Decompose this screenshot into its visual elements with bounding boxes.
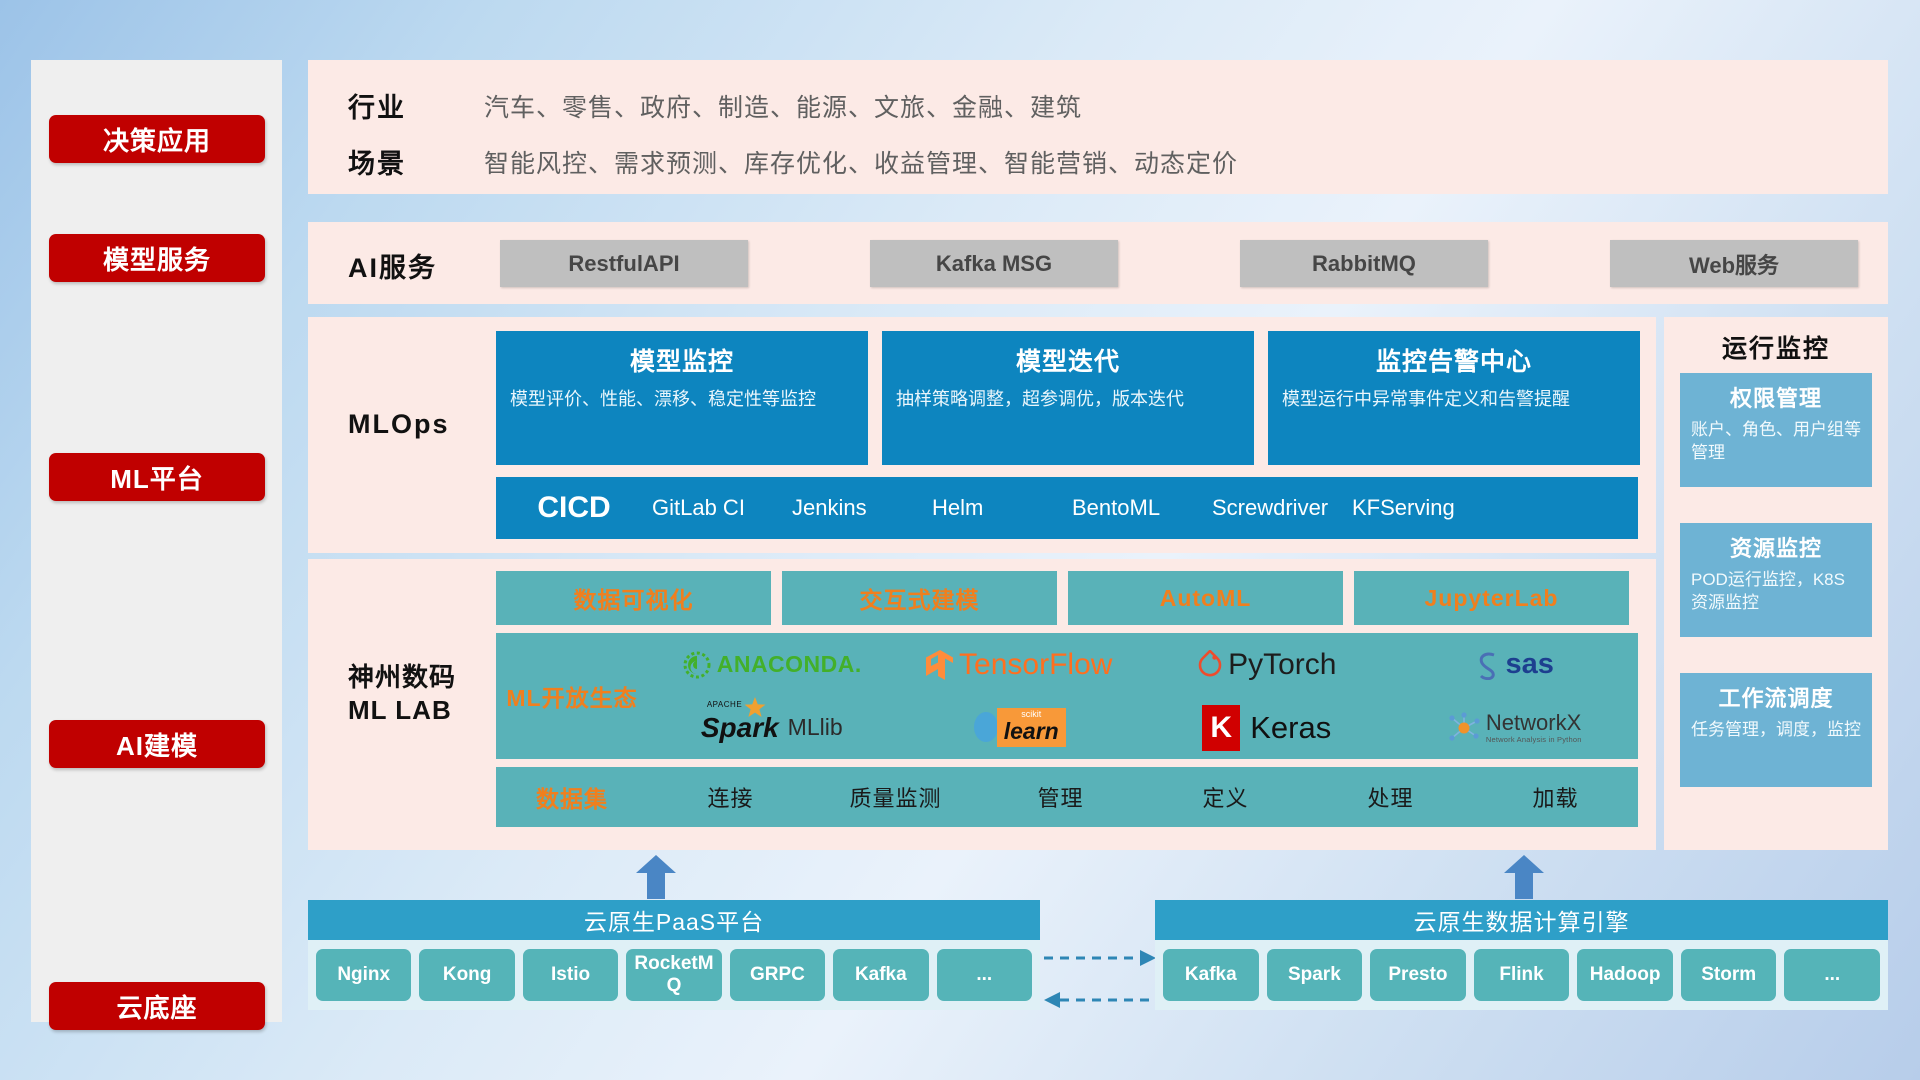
spark-mllib-logo[interactable]: APACHE Spark MLlib — [701, 712, 843, 744]
mlops-label: MLOps — [348, 409, 450, 440]
ml-ecosystem-label: ML开放生态 — [496, 679, 648, 713]
tool-chip-jupyterlab[interactable]: JupyterLab — [1354, 571, 1629, 625]
cicd-item-kfserving[interactable]: KFServing — [1352, 494, 1492, 522]
card-description: 账户、角色、用户组等管理 — [1691, 419, 1861, 464]
mlops-card-model-monitoring[interactable]: 模型监控 模型评价、性能、漂移、稳定性等监控 — [496, 331, 868, 465]
chip-label: Web服务 — [1689, 248, 1779, 280]
tensorflow-icon — [926, 649, 954, 681]
cloud-item-storm[interactable]: Storm — [1681, 949, 1777, 1001]
cloud-item-more[interactable]: ... — [1784, 949, 1880, 1001]
ml-lab-label-line2: ML LAB — [348, 694, 456, 727]
networkx-icon — [1447, 712, 1481, 744]
ai-service-chip-kafka-msg[interactable]: Kafka MSG — [870, 240, 1118, 287]
card-title: 权限管理 — [1691, 381, 1861, 413]
anaconda-icon — [682, 650, 712, 680]
cicd-item-helm[interactable]: Helm — [932, 494, 1072, 522]
networkx-logo[interactable]: NetworkX Network Analysis in Python — [1447, 711, 1582, 743]
dataset-item-processing[interactable]: 处理 — [1308, 781, 1473, 813]
cloud-paas-item-list: Nginx Kong Istio RocketMQ GRPC Kafka ... — [308, 940, 1040, 1010]
runtime-monitor-title: 运行监控 — [1664, 329, 1888, 365]
dataset-item-loading[interactable]: 加载 — [1473, 781, 1638, 813]
stage-chip-model-service[interactable]: 模型服务 — [49, 234, 265, 282]
chip-label: Kafka MSG — [936, 251, 1052, 277]
stage-chip-decision-app[interactable]: 决策应用 — [49, 115, 265, 163]
dataset-item-connect[interactable]: 连接 — [648, 781, 813, 813]
scikit-blue-blob-icon — [973, 710, 999, 744]
card-description: 抽样策略调整，超参调优，版本迭代 — [896, 387, 1240, 411]
ai-service-chip-web-service[interactable]: Web服务 — [1610, 240, 1858, 287]
keras-mark-letter: K — [1210, 711, 1232, 745]
chip-label: JupyterLab — [1425, 585, 1559, 612]
networkx-wordmark: NetworkX — [1486, 711, 1582, 734]
ml-lab-label-line1: 神州数码 — [348, 661, 456, 694]
stage-chip-ai-modeling[interactable]: AI建模 — [49, 720, 265, 768]
anaconda-wordmark: ANACONDA. — [717, 651, 862, 678]
cicd-item-gitlab-ci[interactable]: GitLab CI — [652, 494, 792, 522]
cicd-item-bentoml[interactable]: BentoML — [1072, 494, 1212, 522]
monitor-card-permission-management[interactable]: 权限管理 账户、角色、用户组等管理 — [1680, 373, 1872, 487]
spark-wordmark: Spark — [701, 712, 779, 744]
up-arrow-to-ml-lab-icon — [634, 855, 678, 899]
keras-logo[interactable]: K Keras — [1202, 705, 1331, 751]
stage-chip-label: ML平台 — [110, 459, 204, 496]
cloud-item-flink[interactable]: Flink — [1474, 949, 1570, 1001]
industry-row: 行业 汽车、零售、政府、制造、能源、文旅、金融、建筑 — [348, 86, 1082, 125]
cicd-item-jenkins[interactable]: Jenkins — [792, 494, 932, 522]
dataset-label: 数据集 — [496, 780, 648, 814]
stage-chip-label: AI建模 — [116, 726, 198, 763]
dataset-item-management[interactable]: 管理 — [978, 781, 1143, 813]
industry-label: 行业 — [348, 86, 484, 125]
monitor-card-resource-monitoring[interactable]: 资源监控 POD运行监控，K8S资源监控 — [1680, 523, 1872, 637]
industry-list: 汽车、零售、政府、制造、能源、文旅、金融、建筑 — [484, 88, 1082, 124]
networkx-tagline: Network Analysis in Python — [1486, 735, 1582, 744]
chip-label: 数据可视化 — [574, 581, 694, 615]
dataset-item-quality-monitoring[interactable]: 质量监测 — [813, 781, 978, 813]
chip-label: AutoML — [1160, 585, 1252, 612]
mlops-card-list: 模型监控 模型评价、性能、漂移、稳定性等监控 模型迭代 抽样策略调整，超参调优，… — [496, 331, 1640, 465]
cloud-item-hadoop[interactable]: Hadoop — [1577, 949, 1673, 1001]
spark-star-icon — [743, 696, 767, 720]
cicd-title: CICD — [496, 491, 652, 525]
card-description: 模型运行中异常事件定义和告警提醒 — [1282, 387, 1626, 411]
tool-chip-data-visualization[interactable]: 数据可视化 — [496, 571, 771, 625]
chip-label: RabbitMQ — [1312, 251, 1416, 277]
cloud-data-engine-title: 云原生数据计算引擎 — [1155, 900, 1888, 940]
cloud-item-istio[interactable]: Istio — [523, 949, 618, 1001]
ai-service-chip-rabbitmq[interactable]: RabbitMQ — [1240, 240, 1488, 287]
keras-mark-icon: K — [1202, 705, 1240, 751]
pytorch-logo[interactable]: PyTorch — [1197, 648, 1336, 682]
cloud-item-kafka[interactable]: Kafka — [1163, 949, 1259, 1001]
tensorflow-logo[interactable]: TensorFlow — [926, 648, 1112, 682]
cloud-item-rocketmq[interactable]: RocketMQ — [626, 949, 721, 1001]
ml-lab-label: 神州数码 ML LAB — [348, 661, 456, 726]
applications-panel: 行业 汽车、零售、政府、制造、能源、文旅、金融、建筑 场景 智能风控、需求预测、… — [308, 60, 1888, 194]
card-title: 模型迭代 — [896, 342, 1240, 378]
cloud-item-nginx[interactable]: Nginx — [316, 949, 411, 1001]
pytorch-wordmark: PyTorch — [1228, 648, 1336, 682]
stage-rail: 决策应用 模型服务 ML平台 AI建模 云底座 — [31, 60, 282, 1022]
card-title: 监控告警中心 — [1282, 342, 1626, 378]
mlops-card-alert-center[interactable]: 监控告警中心 模型运行中异常事件定义和告警提醒 — [1268, 331, 1640, 465]
cloud-paas-title: 云原生PaaS平台 — [308, 900, 1040, 940]
cloud-data-engine-item-list: Kafka Spark Presto Flink Hadoop Storm ..… — [1155, 940, 1888, 1010]
cloud-item-grpc[interactable]: GRPC — [730, 949, 825, 1001]
card-title: 模型监控 — [510, 342, 854, 378]
ml-ecosystem-logo-grid: ANACONDA. TensorFlow PyTorch — [648, 633, 1638, 759]
cloud-item-kong[interactable]: Kong — [419, 949, 514, 1001]
scenario-row: 场景 智能风控、需求预测、库存优化、收益管理、智能营销、动态定价 — [348, 142, 1238, 181]
card-title: 资源监控 — [1691, 531, 1861, 563]
dataset-item-definition[interactable]: 定义 — [1143, 781, 1308, 813]
card-description: 模型评价、性能、漂移、稳定性等监控 — [510, 387, 854, 411]
monitor-card-workflow-scheduling[interactable]: 工作流调度 任务管理，调度，监控 — [1680, 673, 1872, 787]
cicd-bar: CICD GitLab CI Jenkins Helm BentoML Scre… — [496, 477, 1638, 539]
learn-wordmark: learn — [1004, 719, 1059, 744]
cloud-paas-block: 云原生PaaS平台 Nginx Kong Istio RocketMQ GRPC… — [308, 900, 1040, 1010]
scikit-learn-logo[interactable]: scikit learn — [973, 708, 1066, 746]
card-description: POD运行监控，K8S资源监控 — [1691, 569, 1861, 614]
scenario-label: 场景 — [348, 142, 484, 181]
cloud-item-presto[interactable]: Presto — [1370, 949, 1466, 1001]
chip-label: RestfulAPI — [568, 251, 679, 277]
sas-wordmark: sas — [1506, 648, 1554, 681]
cloud-item-spark[interactable]: Spark — [1267, 949, 1363, 1001]
card-description: 任务管理，调度，监控 — [1691, 719, 1861, 742]
sas-logo[interactable]: sas — [1475, 648, 1554, 681]
ml-ecosystem-band: ML开放生态 ANACONDA. TensorFlow — [496, 633, 1638, 759]
bidirectional-link-arrows-icon — [1040, 945, 1160, 1015]
stage-chip-label: 决策应用 — [103, 121, 211, 158]
ai-service-label: AI服务 — [348, 246, 437, 285]
tool-chip-interactive-modeling[interactable]: 交互式建模 — [782, 571, 1057, 625]
cloud-data-engine-block: 云原生数据计算引擎 Kafka Spark Presto Flink Hadoo… — [1155, 900, 1888, 1010]
cloud-item-more[interactable]: ... — [937, 949, 1032, 1001]
ai-service-chip-restfulapi[interactable]: RestfulAPI — [500, 240, 748, 287]
ai-service-chip-list: RestfulAPI Kafka MSG RabbitMQ Web服务 — [500, 240, 1862, 287]
anaconda-logo[interactable]: ANACONDA. — [682, 650, 862, 680]
stage-chip-ml-platform[interactable]: ML平台 — [49, 453, 265, 501]
pytorch-icon — [1197, 650, 1223, 680]
runtime-monitor-panel: 运行监控 权限管理 账户、角色、用户组等管理 资源监控 POD运行监控，K8S资… — [1664, 317, 1888, 850]
sas-icon — [1475, 650, 1501, 680]
stage-chip-cloud-foundation[interactable]: 云底座 — [49, 982, 265, 1030]
mlops-panel: MLOps 模型监控 模型评价、性能、漂移、稳定性等监控 模型迭代 抽样策略调整… — [308, 317, 1656, 553]
keras-wordmark: Keras — [1250, 710, 1331, 746]
ml-lab-panel: 神州数码 ML LAB 数据可视化 交互式建模 AutoML JupyterLa… — [308, 559, 1656, 850]
chip-label: 交互式建模 — [860, 581, 980, 615]
ml-lab-tool-list: 数据可视化 交互式建模 AutoML JupyterLab — [496, 571, 1629, 625]
card-title: 工作流调度 — [1691, 681, 1861, 713]
ai-service-panel: AI服务 RestfulAPI Kafka MSG RabbitMQ Web服务 — [308, 222, 1888, 304]
mllib-wordmark: MLlib — [788, 714, 843, 741]
stage-chip-label: 模型服务 — [103, 240, 211, 277]
scenario-list: 智能风控、需求预测、库存优化、收益管理、智能营销、动态定价 — [484, 144, 1238, 180]
apache-wordmark: APACHE — [707, 700, 742, 709]
stage-chip-label: 云底座 — [116, 988, 197, 1025]
mlops-card-model-iteration[interactable]: 模型迭代 抽样策略调整，超参调优，版本迭代 — [882, 331, 1254, 465]
dataset-bar: 数据集 连接 质量监测 管理 定义 处理 加载 — [496, 767, 1638, 827]
cloud-item-kafka[interactable]: Kafka — [833, 949, 928, 1001]
tool-chip-automl[interactable]: AutoML — [1068, 571, 1343, 625]
cicd-item-screwdriver[interactable]: Screwdriver — [1212, 494, 1352, 522]
tensorflow-wordmark: TensorFlow — [959, 648, 1112, 682]
up-arrow-to-monitor-icon — [1502, 855, 1546, 899]
